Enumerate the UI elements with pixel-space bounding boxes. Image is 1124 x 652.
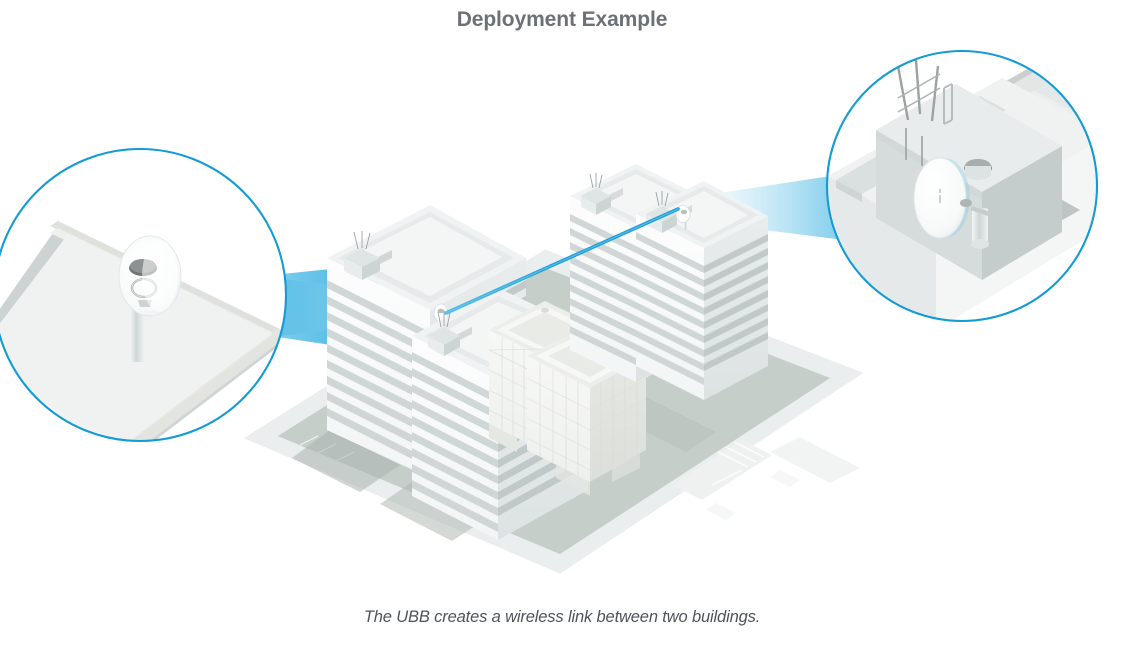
ubb-dish-left-zoomed <box>119 236 181 316</box>
deployment-illustration <box>0 0 1124 652</box>
figure-caption: The UBB creates a wireless link between … <box>0 608 1124 627</box>
magnifier-left[interactable] <box>0 149 292 458</box>
magnifier-right[interactable] <box>827 22 1124 330</box>
tower-right-front <box>636 181 768 400</box>
rooftop-vent <box>964 159 992 180</box>
illustration-page: Deployment Example <box>0 0 1124 652</box>
